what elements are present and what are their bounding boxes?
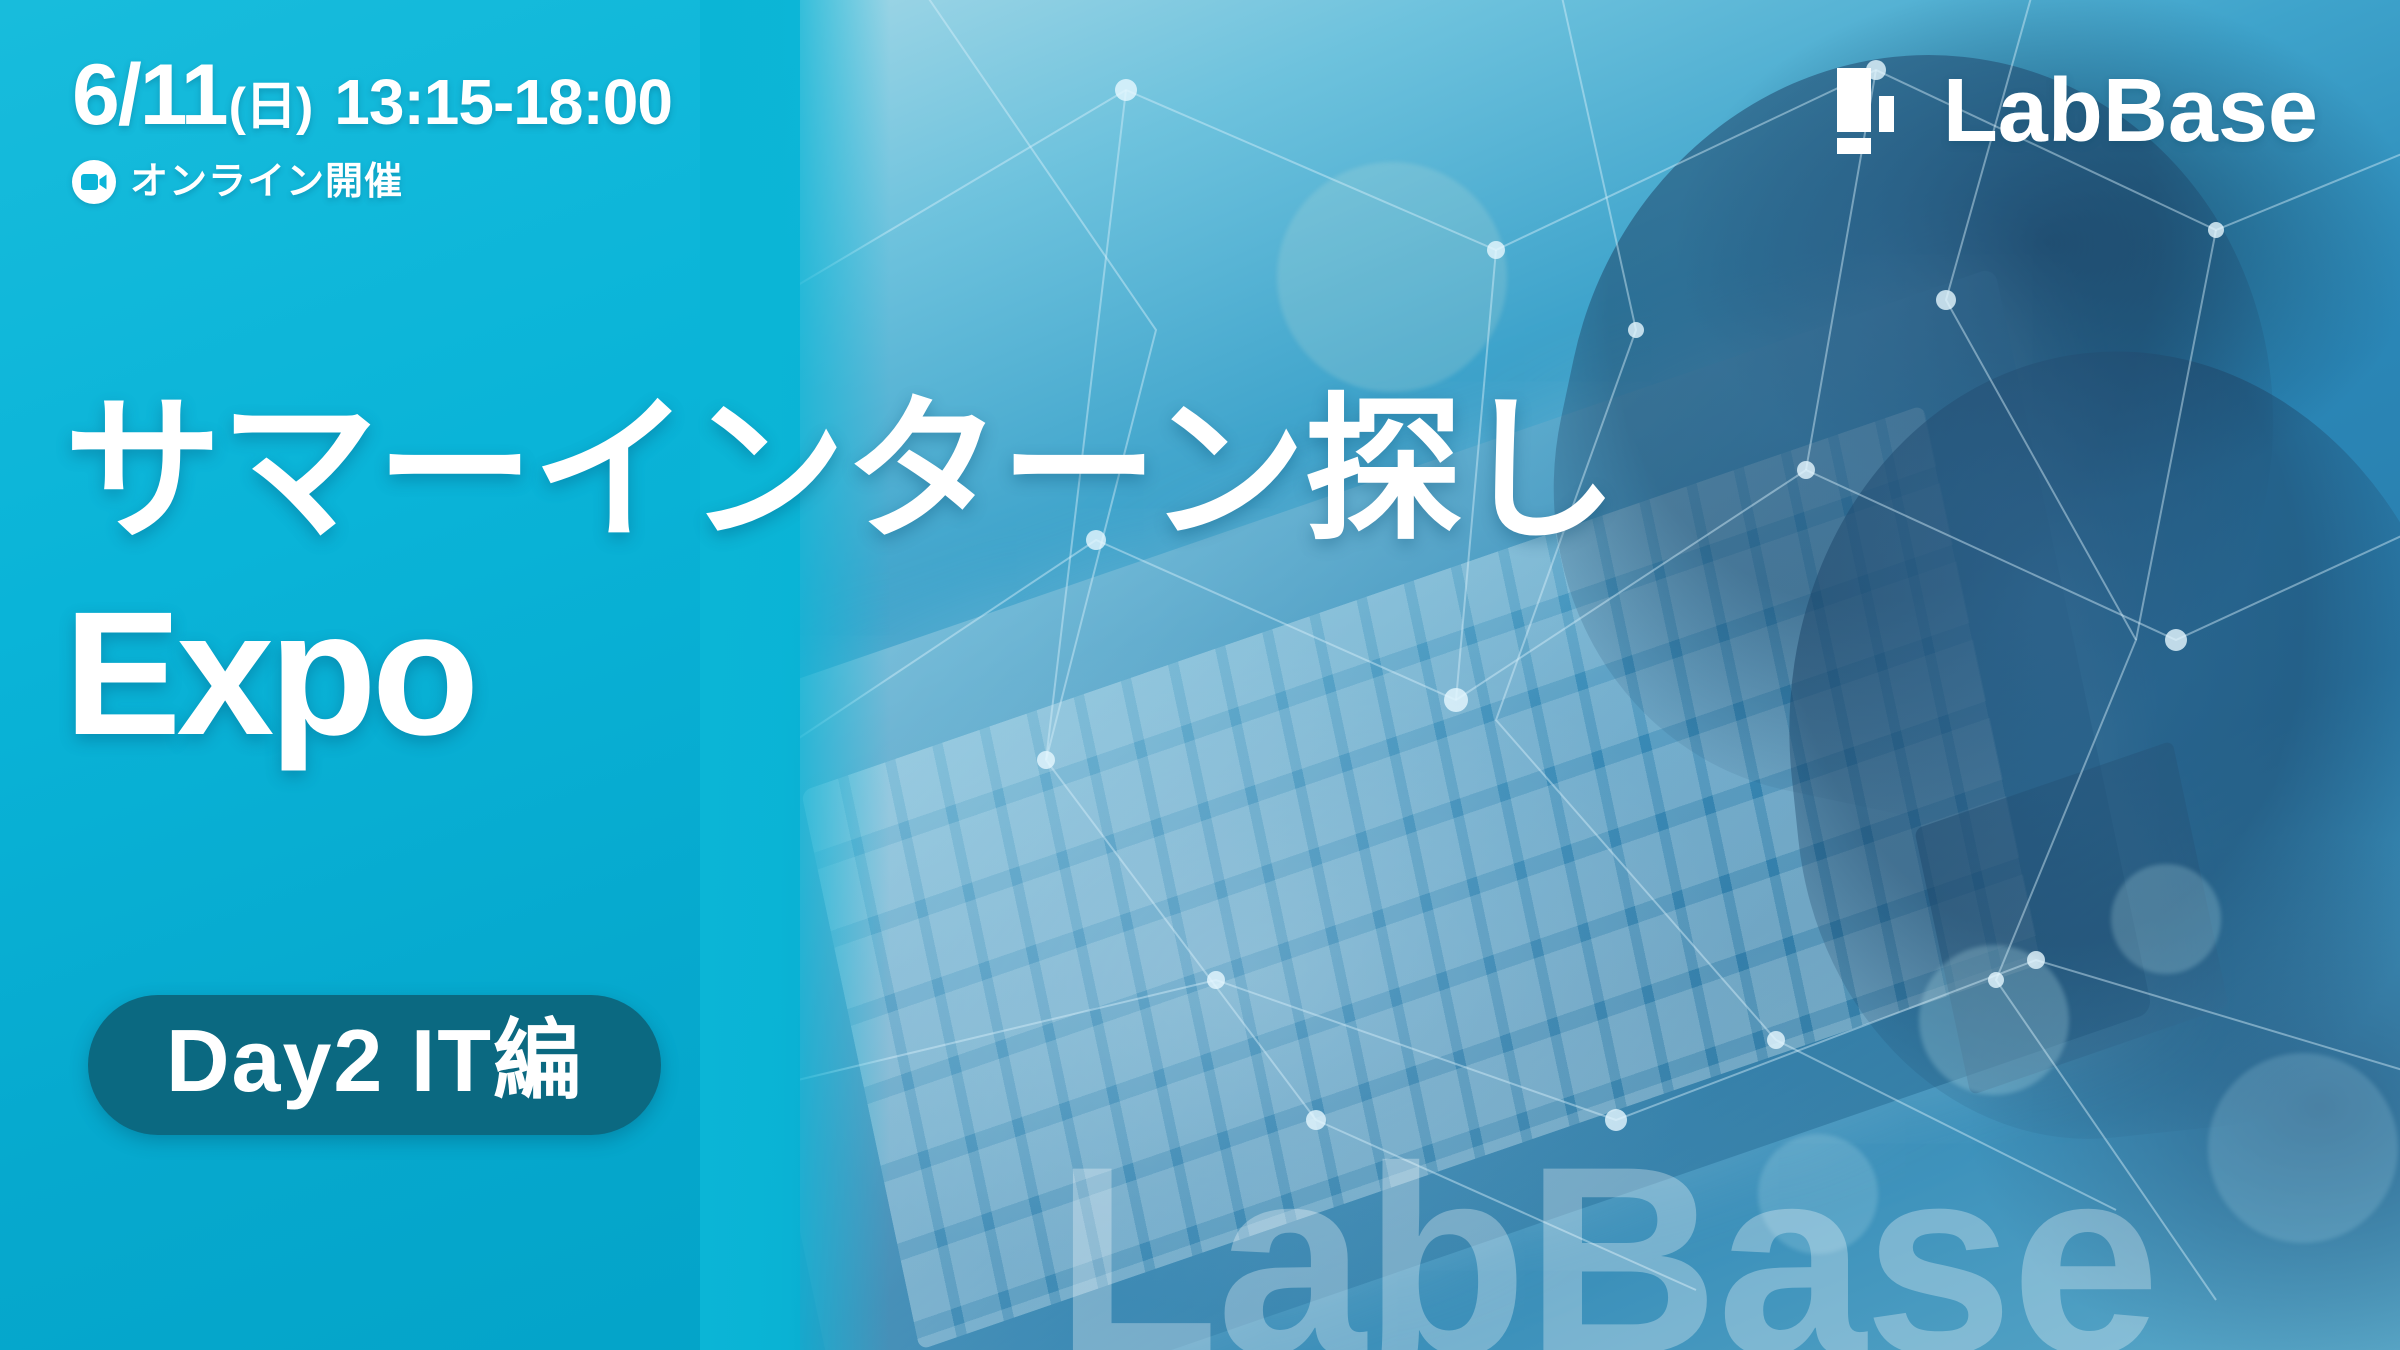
event-format: オンライン開催	[72, 160, 672, 204]
day-track-badge: Day2 IT編	[88, 995, 661, 1135]
brand-watermark: LabBase	[1055, 1126, 2158, 1350]
event-date: 6/11	[72, 52, 227, 138]
event-time-range: 13:15-18:00	[334, 70, 672, 134]
title-line-1: サマーインターン探し	[64, 392, 1616, 550]
event-banner: LabBase 6/11 (日) 13:15-18:00 オンライン開催 Lab…	[0, 0, 2400, 1350]
event-day-of-week: (日)	[229, 81, 313, 133]
labbase-wordmark: LabBase	[1943, 66, 2318, 156]
title-line-2: Expo	[64, 586, 1616, 762]
banner-title: サマーインターン探し Expo	[64, 392, 1616, 762]
labbase-logo: LabBase	[1833, 66, 2318, 156]
event-format-label: オンライン開催	[130, 163, 403, 201]
event-datetime: 6/11 (日) 13:15-18:00	[72, 52, 672, 138]
labbase-l-mark-icon	[1833, 68, 1917, 154]
event-header: 6/11 (日) 13:15-18:00 オンライン開催	[72, 52, 672, 204]
day-track-badge-label: Day2 IT編	[166, 1017, 583, 1105]
video-camera-icon	[72, 160, 116, 204]
